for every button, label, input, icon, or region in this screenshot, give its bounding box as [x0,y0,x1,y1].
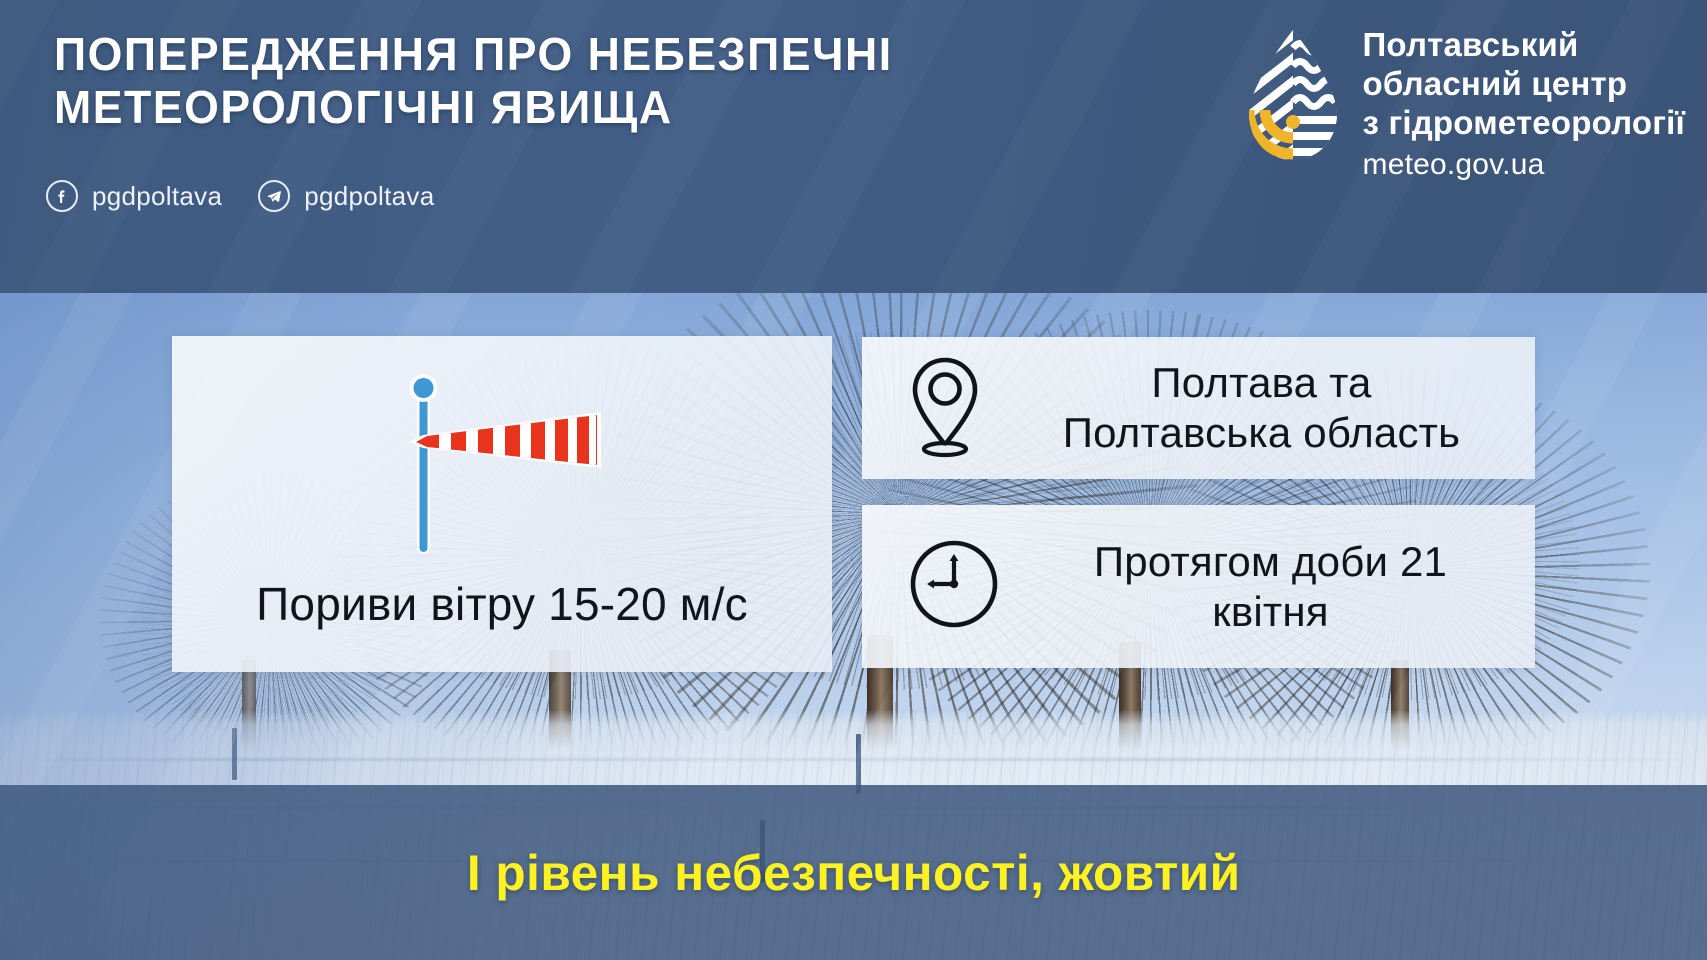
page-title-line2: МЕТЕОРОЛОГІЧНІ ЯВИЩА [54,81,976,134]
header-bar: ПОПЕРЕДЖЕННЯ ПРО НЕБЕЗПЕЧНІ МЕТЕОРОЛОГІЧ… [0,0,1707,293]
location-text: Полтава та Полтавська область [1018,358,1505,457]
time-text: Протягом доби 21 квітня [1032,537,1509,636]
water-droplet-logo-icon [1245,26,1341,166]
map-pin-icon [906,354,984,463]
warning-level-banner: І рівень небезпечності, жовтий [0,785,1707,960]
location-line-2: Полтавська область [1063,409,1460,456]
time-line-2: квітня [1212,588,1328,635]
wind-caption: Пориви вітру 15-20 м/с [172,579,832,630]
location-card: Полтава та Полтавська область [862,337,1535,479]
clock-icon [906,536,1002,637]
social-link-facebook[interactable]: pgdpoltava [46,180,222,212]
logo-line-3: з гідрометеорології [1363,104,1686,143]
page-title-line1: ПОПЕРЕДЖЕННЯ ПРО НЕБЕЗПЕЧНІ [54,28,893,80]
logo-line-1: Полтавський [1363,26,1686,65]
warning-level-text: І рівень небезпечності, жовтий [467,844,1241,902]
time-line-1: Протягом доби 21 [1094,538,1447,585]
logo-website[interactable]: meteo.gov.ua [1363,145,1686,184]
logo-line-2: обласний центр [1363,65,1686,104]
telegram-icon [258,180,290,212]
facebook-handle: pgdpoltava [92,181,222,212]
time-card: Протягом доби 21 квітня [862,505,1535,668]
facebook-icon [46,180,78,212]
wind-warning-card: Пориви вітру 15-20 м/с [172,336,832,672]
location-line-1: Полтава та [1151,359,1371,406]
logo-wordmark: Полтавський обласний центр з гідрометеор… [1363,26,1686,184]
organization-logo: Полтавський обласний центр з гідрометеор… [1245,26,1686,184]
wind-pennant-icon [387,372,617,557]
page-title: ПОПЕРЕДЖЕННЯ ПРО НЕБЕЗПЕЧНІ МЕТЕОРОЛОГІЧ… [54,28,976,135]
telegram-handle: pgdpoltava [304,181,434,212]
weather-warning-poster: ПОПЕРЕДЖЕННЯ ПРО НЕБЕЗПЕЧНІ МЕТЕОРОЛОГІЧ… [0,0,1707,960]
social-links: pgdpoltava pgdpoltava [46,180,434,212]
social-link-telegram[interactable]: pgdpoltava [258,180,434,212]
